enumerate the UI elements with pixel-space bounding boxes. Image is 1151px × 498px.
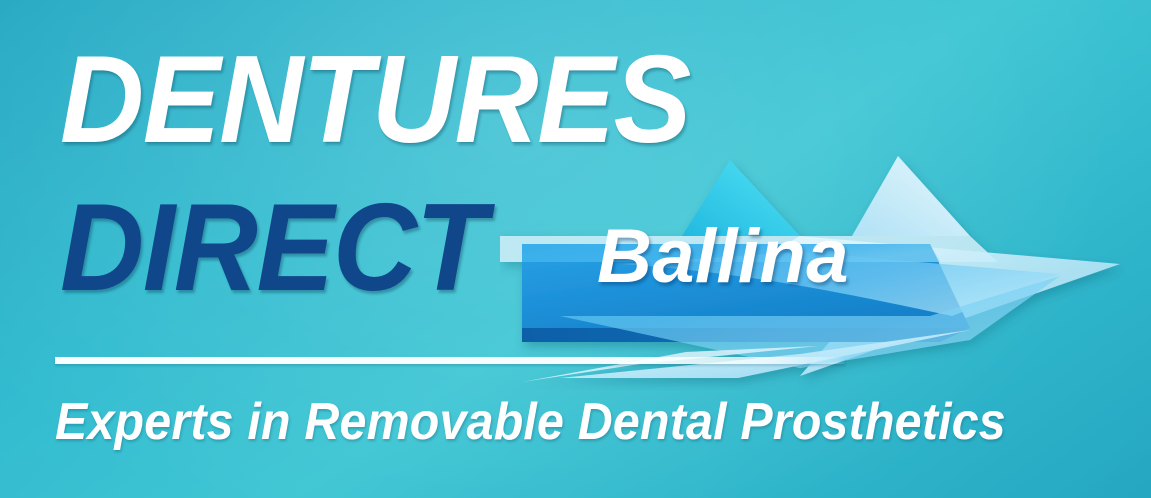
arrow-tail-upper-outer [852, 156, 970, 236]
logo-canvas: DENTURES DIRECT Ballina Experts in Remov… [0, 0, 1151, 498]
wordmark-direct: DIRECT [60, 186, 485, 310]
tagline: Experts in Removable Dental Prosthetics [55, 396, 1006, 448]
wordmark-dentures: DENTURES [60, 38, 690, 162]
divider-rule [55, 357, 845, 364]
location-label-ballina: Ballina [597, 219, 849, 295]
